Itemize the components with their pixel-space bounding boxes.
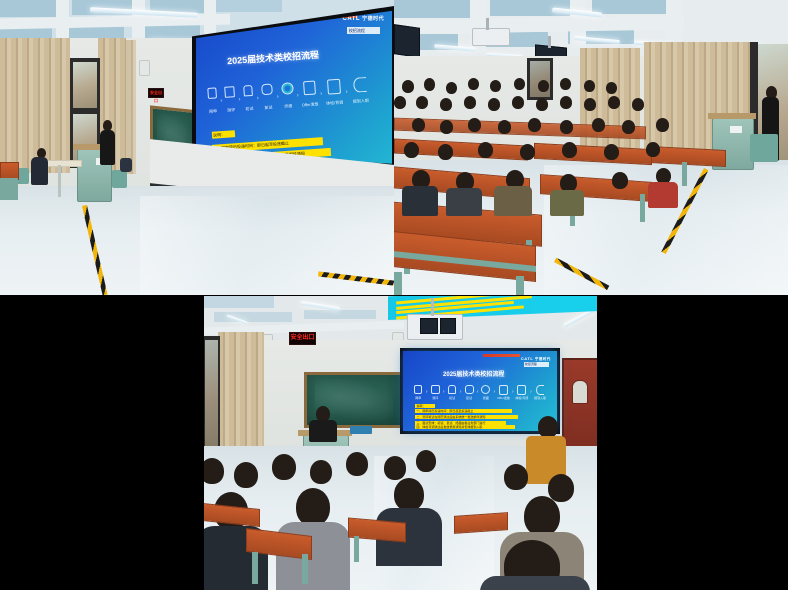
audience-head-back bbox=[272, 454, 296, 480]
process-step: 复试 bbox=[461, 385, 476, 400]
slide-brand-bar bbox=[483, 354, 520, 357]
process-step-label: 初试 bbox=[449, 396, 455, 400]
medical-report-icon bbox=[326, 79, 340, 95]
document-icon bbox=[414, 385, 422, 394]
slide-notes-heading: 说明： bbox=[415, 404, 434, 408]
document-icon bbox=[207, 87, 217, 99]
slide-note-line: 四、体检背调通过后发放录用通知并安排报到入职 bbox=[415, 425, 515, 429]
audience-head bbox=[608, 96, 620, 109]
audience-head bbox=[562, 142, 577, 158]
slide-corner-tag-text: 校招流程 bbox=[349, 28, 365, 33]
catl-logo-text-cn: 宁德时代 bbox=[535, 357, 551, 361]
audience-body bbox=[402, 186, 438, 216]
ceiling-panel bbox=[394, 0, 472, 18]
audience-head bbox=[560, 78, 571, 90]
audience-head-back bbox=[524, 496, 560, 536]
audience-head bbox=[536, 98, 548, 111]
audience-head bbox=[528, 118, 541, 132]
process-step-label: 体检/背调 bbox=[326, 99, 344, 106]
audience-head-back bbox=[416, 450, 436, 472]
ceiling-beam bbox=[204, 0, 216, 36]
desk-leg bbox=[58, 165, 61, 197]
audience-head bbox=[612, 172, 628, 189]
bench-frame bbox=[516, 276, 524, 295]
audience-head bbox=[404, 142, 419, 158]
audience-head bbox=[424, 78, 435, 91]
audience-head bbox=[538, 80, 549, 92]
monitor-mount bbox=[548, 36, 551, 48]
audience-head bbox=[584, 80, 595, 92]
clipboard-check-icon bbox=[431, 385, 440, 394]
audience-body bbox=[648, 182, 678, 208]
laptop bbox=[350, 426, 372, 434]
bench bbox=[454, 512, 508, 534]
audience-head bbox=[560, 96, 572, 109]
audience-body-back bbox=[480, 576, 590, 590]
audience-head bbox=[604, 144, 619, 160]
seated-person-body bbox=[31, 157, 48, 185]
audience-body bbox=[494, 186, 532, 216]
person-interview-icon bbox=[448, 385, 456, 394]
process-step: 初试 bbox=[239, 84, 257, 112]
ceiling-panel bbox=[204, 296, 274, 308]
bench-frame bbox=[682, 162, 687, 186]
process-step-label: 终面 bbox=[483, 396, 489, 400]
audience-head bbox=[446, 82, 457, 94]
audience-head bbox=[464, 96, 476, 109]
podium-plate bbox=[730, 126, 742, 133]
ceiling-panel bbox=[0, 0, 60, 17]
process-step: Offer发放 bbox=[495, 385, 512, 400]
ceiling-beam bbox=[666, 0, 682, 44]
process-step: 网申 bbox=[411, 385, 426, 400]
target-icon bbox=[481, 385, 490, 394]
slide-process-steps: 网申 › 测评 › 初试 › 复试 › bbox=[203, 76, 385, 116]
ceiling-monitor bbox=[394, 24, 420, 58]
audience-head bbox=[412, 118, 425, 132]
chair bbox=[750, 134, 778, 162]
led-screen[interactable]: CATL 宁德时代 校招流程 2025届技术类校招流程 网申 › 测评 › bbox=[403, 351, 557, 431]
process-step-label: 报到入职 bbox=[353, 98, 369, 105]
ceiling-panel bbox=[304, 310, 376, 319]
slide-process-steps: 网申 › 测评 › 初试 › 复试 › bbox=[411, 385, 550, 400]
process-step-label: Offer发放 bbox=[301, 101, 318, 108]
process-step: 复试 bbox=[258, 83, 278, 111]
process-step: 体检/背调 bbox=[321, 78, 346, 107]
classroom-door bbox=[562, 358, 597, 454]
presenter-body bbox=[309, 420, 337, 442]
door-window bbox=[572, 380, 588, 404]
audience-head-back bbox=[384, 456, 406, 480]
slide-note-line: 一、网申简历投递时间：即日起至投递截止 bbox=[415, 409, 511, 413]
process-step: 报到入职 bbox=[347, 76, 374, 105]
process-step: 初试 bbox=[445, 385, 460, 400]
audience-head bbox=[488, 98, 500, 111]
audience-head bbox=[394, 96, 406, 109]
slide-title: 2025届技术类校招流程 bbox=[227, 48, 320, 67]
bench-frame bbox=[302, 554, 308, 584]
audience-head bbox=[440, 120, 453, 134]
bench-frame bbox=[252, 552, 258, 584]
window-curtain bbox=[218, 332, 264, 450]
photo-bottom: 安全出口 CATL 宁德时代 校招流程 2025届技术类校招流程 网申 › bbox=[204, 296, 597, 590]
window-curtain bbox=[0, 38, 70, 173]
audience-head bbox=[592, 118, 605, 132]
process-step: 终面 bbox=[478, 385, 493, 400]
exit-sign: 安全出口 bbox=[148, 88, 164, 98]
audience-head bbox=[606, 82, 617, 94]
process-step-label: 报到入职 bbox=[534, 396, 546, 400]
exit-sign-text: 安全出口 bbox=[149, 89, 163, 105]
audience-head bbox=[416, 96, 428, 109]
slide-note-line: 二、测评笔试在简历通过后由系统统一发送邮件通知 bbox=[415, 415, 518, 419]
chair bbox=[112, 170, 127, 188]
target-icon bbox=[281, 82, 294, 95]
process-step-label: Offer发放 bbox=[497, 396, 510, 400]
person-add-icon bbox=[353, 77, 367, 93]
wall-ac-unit bbox=[139, 60, 150, 76]
slide-corner-tag-text: 校招流程 bbox=[525, 362, 537, 366]
catl-logo-text-cn: 宁德时代 bbox=[362, 16, 384, 22]
audience-head-back bbox=[504, 464, 528, 490]
audience-head-back bbox=[204, 458, 224, 484]
process-step-label: 测评 bbox=[227, 107, 235, 114]
slide-note-line: 三、面试安排：初试、复试、终面由各业务部门进行 bbox=[415, 421, 505, 425]
video-call-icon bbox=[465, 385, 474, 394]
audience-head-back bbox=[296, 488, 330, 526]
projector-mount bbox=[431, 298, 434, 316]
audience-head bbox=[520, 144, 535, 160]
process-step: 终面 bbox=[278, 82, 298, 110]
slide-title: 2025届技术类校招流程 bbox=[443, 369, 504, 378]
medical-report-icon bbox=[517, 385, 526, 395]
audience-head bbox=[622, 120, 635, 134]
audience-head-back bbox=[394, 478, 424, 511]
audience-head bbox=[478, 142, 493, 158]
audience-head bbox=[468, 78, 479, 90]
bench-frame bbox=[640, 194, 645, 222]
process-step-label: 复试 bbox=[466, 396, 472, 400]
audience-head bbox=[468, 118, 481, 132]
bench-frame bbox=[394, 272, 402, 295]
offer-letter-icon bbox=[499, 385, 508, 395]
audience-body bbox=[550, 190, 584, 216]
bench-frame bbox=[354, 536, 359, 562]
ceiling-panel bbox=[592, 0, 672, 14]
audience-body bbox=[446, 188, 482, 216]
audience-head bbox=[498, 120, 511, 134]
audience-head-back bbox=[234, 462, 258, 488]
projector-lens bbox=[420, 318, 438, 334]
standing-student-head bbox=[538, 416, 558, 438]
process-step: 体检/背调 bbox=[514, 385, 531, 400]
photo-top-left: 安全出口 CATL 宁德时代 校招流程 2025届技术类校招流程 网申 › bbox=[0, 0, 394, 295]
process-step-label: 测评 bbox=[432, 396, 438, 400]
audience-head-back bbox=[346, 452, 368, 476]
ceiling-beam bbox=[132, 0, 145, 40]
ceiling-beam bbox=[56, 0, 69, 42]
catl-logo-text: CATL bbox=[521, 356, 533, 361]
podium-top bbox=[708, 113, 756, 119]
audience-head bbox=[584, 98, 596, 111]
collage-canvas: 安全出口 CATL 宁德时代 校招流程 2025届技术类校招流程 网申 › bbox=[0, 0, 788, 590]
slide-corner-tag: 校招流程 bbox=[524, 362, 550, 367]
audience-head bbox=[632, 98, 644, 111]
window-curtain bbox=[126, 40, 136, 174]
exit-sign: 安全出口 bbox=[289, 332, 316, 345]
ceiling-panel bbox=[212, 0, 282, 12]
window-glass bbox=[530, 61, 550, 97]
process-step-label: 终面 bbox=[284, 103, 292, 110]
audience-head bbox=[440, 98, 452, 111]
projector-mount bbox=[486, 18, 489, 30]
clipboard-check-icon bbox=[224, 86, 235, 98]
audience-head bbox=[560, 120, 573, 134]
bench-frame bbox=[0, 178, 18, 200]
process-step: Offer发放 bbox=[298, 80, 321, 108]
audience-head bbox=[514, 78, 525, 90]
person-add-icon bbox=[536, 385, 544, 395]
process-step-label: 复试 bbox=[264, 104, 272, 111]
teaching-console bbox=[76, 152, 114, 202]
audience-head bbox=[402, 80, 414, 93]
process-step: 测评 bbox=[221, 86, 239, 114]
video-call-icon bbox=[261, 83, 273, 95]
audience-head bbox=[512, 96, 524, 109]
process-step-label: 体检/背调 bbox=[515, 396, 528, 400]
window-glass bbox=[73, 62, 97, 108]
projector-lens bbox=[440, 318, 456, 334]
audience-head-back bbox=[310, 460, 332, 484]
person-interview-icon bbox=[243, 85, 253, 97]
process-step-label: 网申 bbox=[209, 108, 217, 115]
audience-head bbox=[646, 142, 660, 157]
catl-logo: CATL 宁德时代 bbox=[521, 356, 551, 362]
slide-corner-tag: 校招流程 bbox=[347, 27, 380, 34]
slide-notes-heading: 说明： bbox=[211, 130, 234, 139]
offer-letter-icon bbox=[302, 80, 315, 95]
ceiling-projector bbox=[472, 28, 510, 46]
audience-head-back bbox=[548, 474, 574, 502]
backpack bbox=[120, 158, 132, 172]
process-step-label: 初试 bbox=[245, 106, 253, 113]
photo-top-right bbox=[394, 0, 788, 295]
process-step: 报到入职 bbox=[532, 385, 549, 400]
process-step: 测评 bbox=[428, 385, 443, 400]
audience-head bbox=[656, 118, 669, 132]
process-step: 网申 bbox=[203, 87, 221, 115]
exit-sign-text: 安全出口 bbox=[290, 333, 315, 344]
audience-head bbox=[490, 80, 501, 92]
process-step-label: 网申 bbox=[415, 396, 421, 400]
audience-head bbox=[438, 144, 453, 160]
window-glass bbox=[205, 340, 218, 448]
